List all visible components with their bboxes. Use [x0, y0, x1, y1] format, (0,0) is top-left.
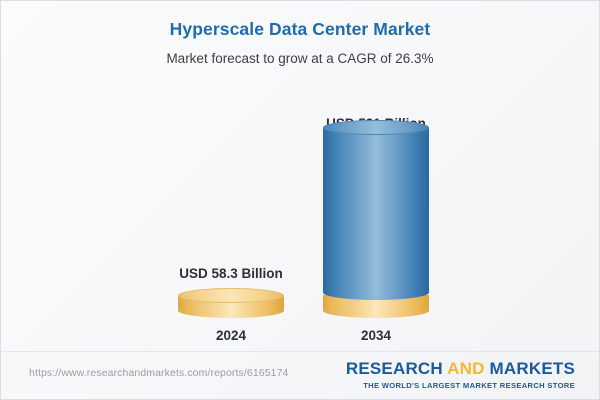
logo-text-markets: MARKETS	[485, 359, 575, 378]
cylinder-top	[178, 288, 284, 303]
chart-header: Hyperscale Data Center Market Market for…	[1, 19, 599, 66]
axis-label-2024: 2024	[151, 328, 311, 343]
chart-footer: https://www.researchandmarkets.com/repor…	[1, 351, 599, 399]
bar-2034	[323, 120, 429, 300]
logo-text-research: RESEARCH	[346, 359, 447, 378]
cylinder-body	[323, 127, 429, 293]
bar-2024	[178, 288, 284, 318]
source-url[interactable]: https://www.researchandmarkets.com/repor…	[29, 367, 288, 379]
logo-tagline: THE WORLD'S LARGEST MARKET RESEARCH STOR…	[346, 381, 575, 390]
logo-text-and: AND	[447, 359, 484, 378]
logo-wordmark: RESEARCH AND MARKETS	[346, 360, 575, 378]
axis-label-2034: 2034	[296, 328, 456, 343]
cylinder-top	[323, 120, 429, 135]
page-title: Hyperscale Data Center Market	[1, 19, 599, 40]
chart-card: Hyperscale Data Center Market Market for…	[0, 0, 600, 400]
research-and-markets-logo[interactable]: RESEARCH AND MARKETS THE WORLD'S LARGEST…	[346, 360, 575, 390]
bar-value-label-2024: USD 58.3 Billion	[151, 266, 311, 281]
chart-plot-area: USD 58.3 Billion 2024 USD 591 Billion 20…	[1, 81, 600, 346]
chart-subtitle: Market forecast to grow at a CAGR of 26.…	[1, 51, 599, 66]
